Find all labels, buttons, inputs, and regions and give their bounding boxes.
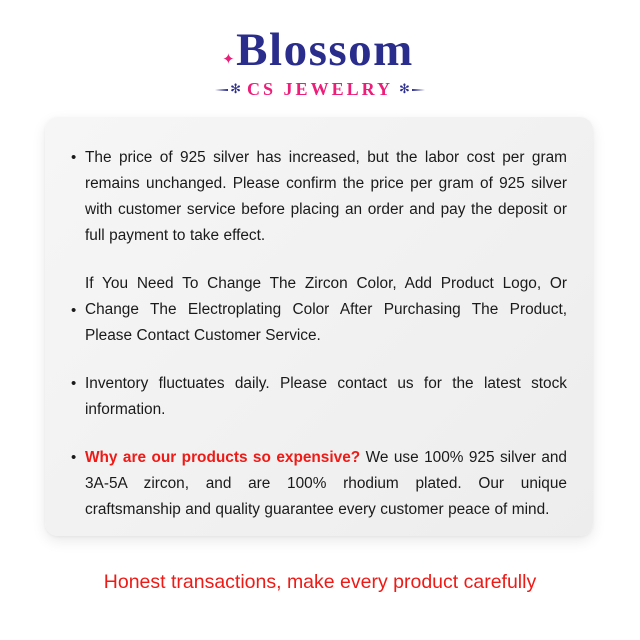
notice-item-text: If You Need To Change The Zircon Color, … — [85, 271, 567, 349]
footer-slogan: Honest transactions, make every product … — [0, 568, 640, 596]
list-item: • The price of 925 silver has increased,… — [71, 145, 567, 249]
notice-card: • The price of 925 silver has increased,… — [45, 117, 593, 536]
brand-tagline-text: CS JEWELRY — [247, 79, 393, 100]
ornament-right-icon: ✻ — [399, 83, 425, 96]
ornament-right-glyph: ✻ — [399, 83, 410, 96]
bullet-icon: • — [71, 371, 85, 397]
brand-tagline: ✻ CS JEWELRY ✻ — [0, 79, 640, 100]
bullet-icon: • — [71, 303, 85, 318]
ornament-left-glyph: ✻ — [230, 83, 241, 96]
brand-header: ✦ Blossom ✻ CS JEWELRY ✻ — [0, 26, 640, 100]
bullet-icon: • — [71, 445, 85, 471]
brand-wordmark-text: Blossom — [236, 24, 414, 76]
ornament-left-icon: ✻ — [215, 83, 241, 96]
notice-item-text: Why are our products so expensive? We us… — [85, 445, 567, 523]
list-item: • Inventory fluctuates daily. Please con… — [71, 371, 567, 423]
notice-bullet-list: • The price of 925 silver has increased,… — [71, 145, 567, 523]
list-item: • Why are our products so expensive? We … — [71, 445, 567, 523]
notice-item-text: The price of 925 silver has increased, b… — [85, 145, 567, 249]
notice-item-text: Inventory fluctuates daily. Please conta… — [85, 371, 567, 423]
ornament-right-rule — [412, 89, 425, 91]
brand-wordmark: ✦ Blossom — [226, 26, 414, 75]
list-item: • If You Need To Change The Zircon Color… — [71, 271, 567, 349]
ornament-left-rule — [215, 89, 228, 91]
bullet-icon: • — [71, 145, 85, 171]
sparkle-icon: ✦ — [222, 53, 235, 66]
notice-item-highlight: Why are our products so expensive? — [85, 449, 360, 466]
